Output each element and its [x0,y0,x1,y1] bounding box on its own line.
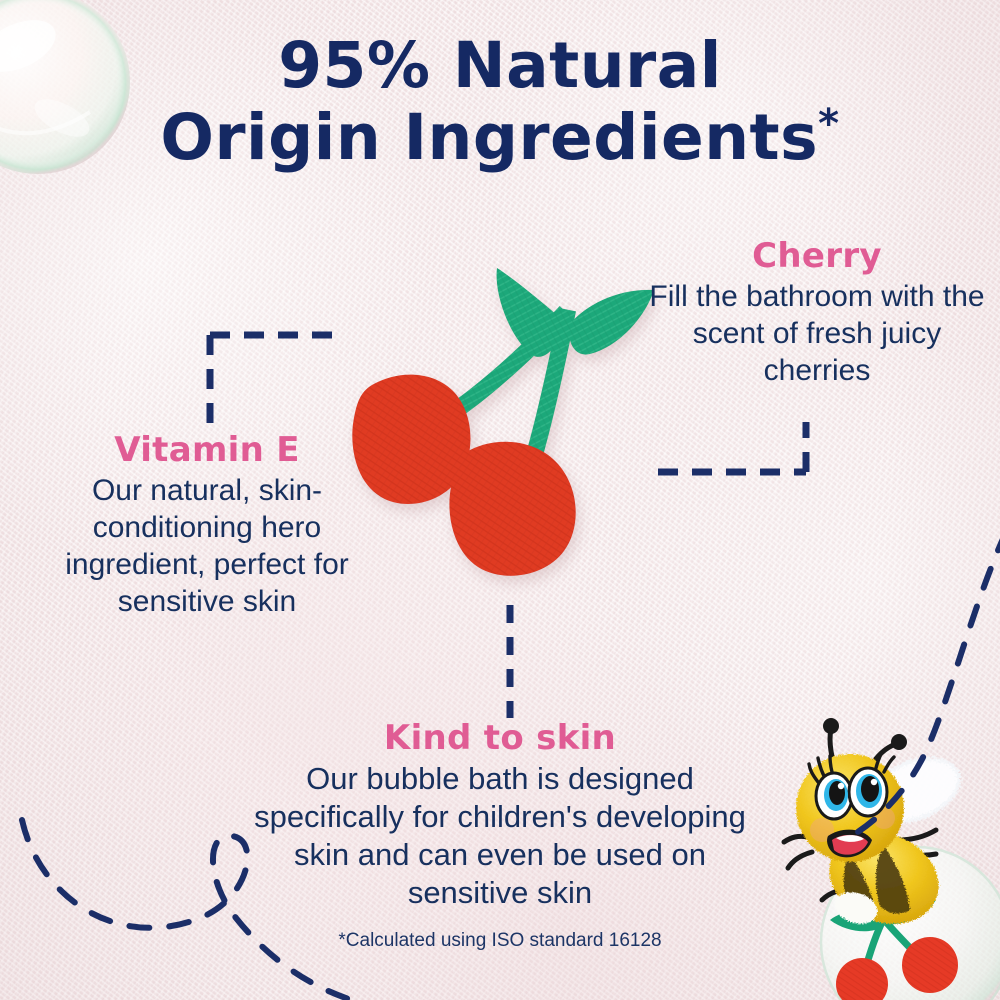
headline-line-2: Origin Ingredients* [0,102,1000,174]
headline-block: 95% Natural Origin Ingredients* [0,30,1000,174]
callout-kind-to-skin-body: Our bubble bath is designed specifically… [232,760,768,912]
callout-vitamin-e-body: Our natural, skin-conditioning hero ingr… [42,472,372,620]
callout-cherry-body: Fill the bathroom with the scent of fres… [648,278,986,389]
callout-vitamin-e-heading: Vitamin E [42,430,372,470]
headline-asterisk: * [818,101,839,147]
headline-line-1: 95% Natural [0,30,1000,102]
bee-flight-path-right [848,532,1000,838]
callout-vitamin-e: Vitamin E Our natural, skin-conditioning… [42,430,372,620]
callout-kind-to-skin-heading: Kind to skin [232,718,768,758]
poster-canvas: 95% Natural Origin Ingredients* [0,0,1000,1000]
headline-line-2-text: Origin Ingredients [160,101,818,174]
callout-cherry-heading: Cherry [648,236,986,276]
callout-kind-to-skin: Kind to skin Our bubble bath is designed… [232,718,768,912]
callout-cherry: Cherry Fill the bathroom with the scent … [648,236,986,389]
footnote: *Calculated using ISO standard 16128 [0,930,1000,952]
